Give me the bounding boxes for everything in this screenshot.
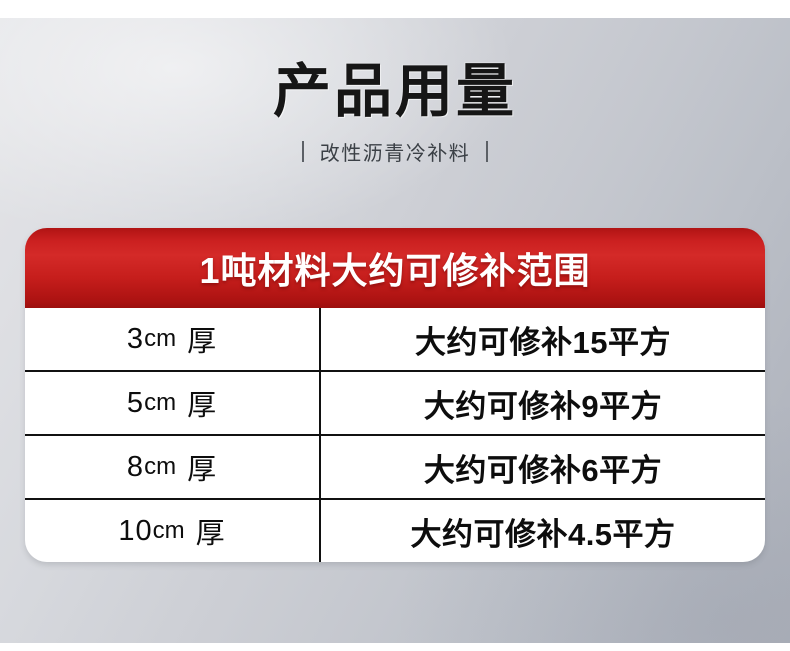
cell-coverage: 大约可修补15平方 bbox=[321, 308, 765, 370]
thickness-unit: cm bbox=[144, 389, 176, 417]
cell-coverage: 大约可修补6平方 bbox=[321, 436, 765, 498]
cell-thickness: 3cm厚 bbox=[25, 308, 321, 370]
thickness-word: 厚 bbox=[187, 318, 217, 360]
thickness-value: 10 bbox=[118, 515, 152, 548]
cell-coverage: 大约可修补9平方 bbox=[321, 372, 765, 434]
table-row: 3cm厚 大约可修补15平方 bbox=[25, 308, 765, 372]
thickness-word: 厚 bbox=[196, 510, 226, 552]
coverage-table-body: 3cm厚 大约可修补15平方 5cm厚 大约可修补9平方 8cm厚 大约可修补6… bbox=[25, 308, 765, 562]
cell-thickness: 5cm厚 bbox=[25, 372, 321, 434]
page-subtitle: 改性沥青冷补料 bbox=[320, 137, 471, 166]
thickness-word: 厚 bbox=[187, 382, 217, 424]
table-row: 10cm厚 大约可修补4.5平方 bbox=[25, 500, 765, 562]
thickness-word: 厚 bbox=[187, 446, 217, 488]
thickness-value: 5 bbox=[127, 387, 144, 420]
subtitle-row: 改性沥青冷补料 bbox=[0, 137, 790, 166]
heading-block: 产品用量 改性沥青冷补料 bbox=[0, 62, 790, 166]
table-row: 8cm厚 大约可修补6平方 bbox=[25, 436, 765, 500]
thickness-value: 3 bbox=[127, 323, 144, 356]
product-usage-infographic: 产品用量 改性沥青冷补料 1吨材料大约可修补范围 3cm厚 大约可修补15平方 … bbox=[0, 0, 790, 651]
thickness-value: 8 bbox=[127, 451, 144, 484]
vertical-bar-right-icon bbox=[486, 141, 488, 162]
cell-coverage: 大约可修补4.5平方 bbox=[321, 500, 765, 562]
coverage-table-banner-title: 1吨材料大约可修补范围 bbox=[199, 242, 590, 294]
table-row: 5cm厚 大约可修补9平方 bbox=[25, 372, 765, 436]
thickness-unit: cm bbox=[153, 517, 185, 545]
coverage-table-card: 1吨材料大约可修补范围 3cm厚 大约可修补15平方 5cm厚 大约可修补9平方… bbox=[25, 228, 765, 562]
vertical-bar-left-icon bbox=[302, 141, 304, 162]
thickness-unit: cm bbox=[144, 325, 176, 353]
cell-thickness: 8cm厚 bbox=[25, 436, 321, 498]
coverage-table-banner: 1吨材料大约可修补范围 bbox=[25, 228, 765, 308]
page-title: 产品用量 bbox=[0, 62, 790, 123]
cell-thickness: 10cm厚 bbox=[25, 500, 321, 562]
thickness-unit: cm bbox=[144, 453, 176, 481]
